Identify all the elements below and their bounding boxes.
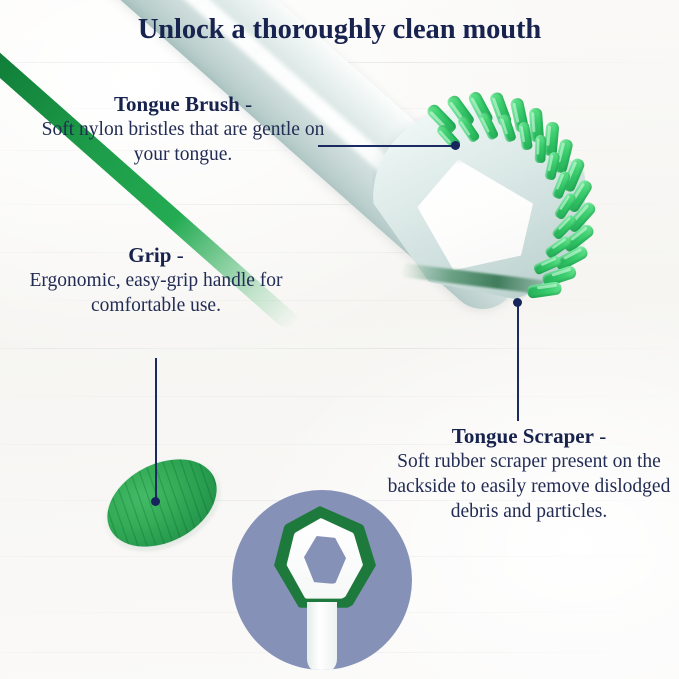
callout-grip: Grip - Ergonomic, easy-grip handle for c… xyxy=(6,243,306,318)
leader-dot-tongue-scraper xyxy=(513,298,522,307)
leader-line-grip xyxy=(155,358,157,502)
callout-title-grip: Grip - xyxy=(6,243,306,268)
infographic-canvas: Unlock a thoroughly clean mouth Tongue B… xyxy=(0,0,679,679)
leader-dot-grip xyxy=(151,497,160,506)
callout-tongue-brush: Tongue Brush - Soft nylon bristles that … xyxy=(33,92,333,167)
leader-dot-tongue-brush xyxy=(451,141,460,150)
grip-pad xyxy=(93,442,232,564)
grip-ribs xyxy=(93,442,232,564)
inset-handle-stem xyxy=(307,602,337,670)
page-title: Unlock a thoroughly clean mouth xyxy=(0,14,679,46)
callout-tongue-scraper: Tongue Scraper - Soft rubber scraper pre… xyxy=(382,424,676,525)
callout-body-grip: Ergonomic, easy-grip handle for comforta… xyxy=(6,268,306,319)
callout-body-tongue-brush: Soft nylon bristles that are gentle on y… xyxy=(33,117,333,168)
leader-line-tongue-scraper xyxy=(517,303,519,421)
callout-title-tongue-scraper: Tongue Scraper - xyxy=(382,424,676,449)
leader-line-tongue-brush xyxy=(318,145,456,147)
brush-head xyxy=(356,96,656,326)
bristle xyxy=(535,135,547,163)
callout-title-tongue-brush: Tongue Brush - xyxy=(33,92,333,117)
callout-body-tongue-scraper: Soft rubber scraper present on the backs… xyxy=(382,449,676,525)
